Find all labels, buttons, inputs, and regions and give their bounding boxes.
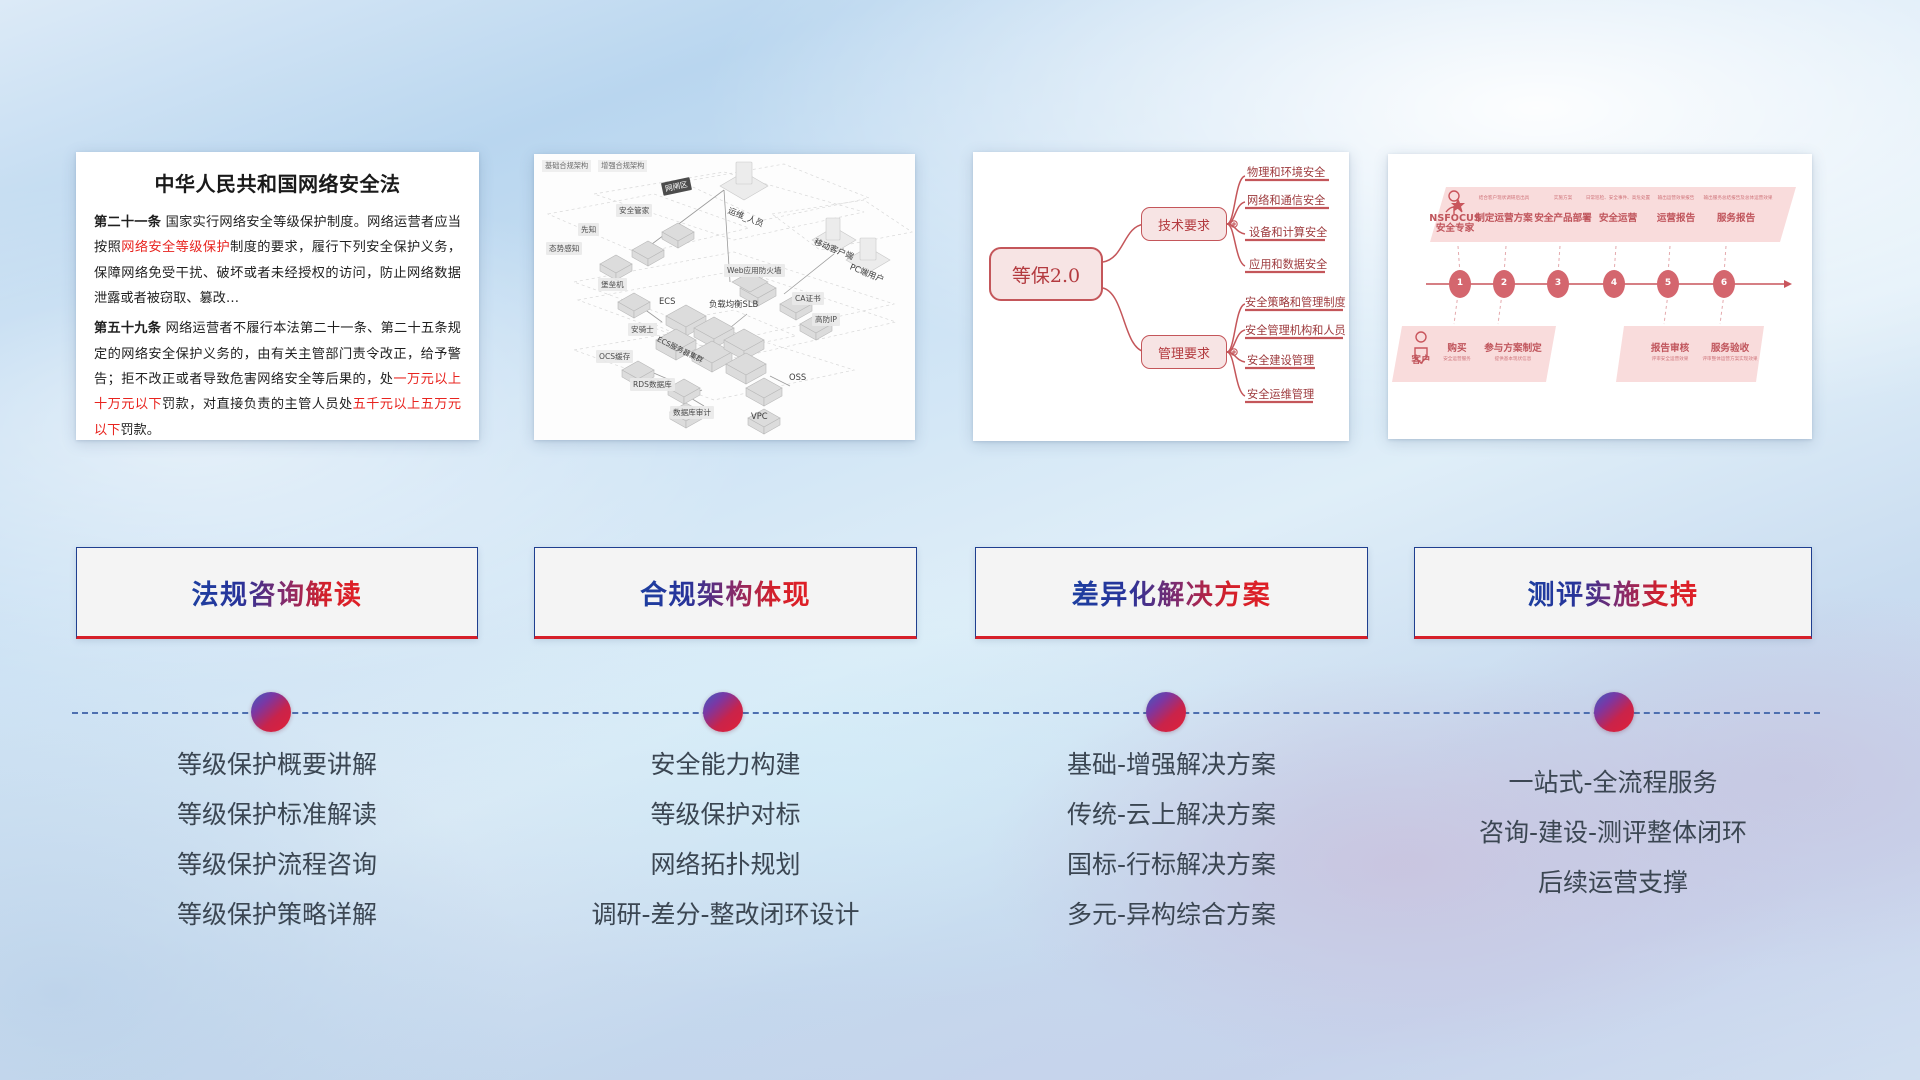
- section-title-row: 法规咨询解读 合规架构体现 差异化解决方案 测评实施支持: [0, 547, 1920, 659]
- section-title-3: 差异化解决方案: [1072, 573, 1272, 612]
- timeline-marker-4[interactable]: [1594, 692, 1634, 732]
- law-run-2-2: 罚款，对直接负责的主管人员处: [162, 397, 353, 412]
- list-item: 安全能力构建: [534, 740, 917, 790]
- law-body: 中华人民共和国网络安全法 第二十一条 国家实行网络安全等级保护制度。网络运营者应…: [76, 152, 479, 440]
- mindmap-leaf-security-ops-mgmt: 安全运维管理: [1247, 386, 1314, 402]
- process-step-6-top-label: 服务报告: [1698, 210, 1774, 224]
- timeline-marker-2[interactable]: [703, 692, 743, 732]
- list-item: 传统-云上解决方案: [975, 790, 1368, 840]
- mindmap-leaf-physical-env-security: 物理和环境安全: [1247, 164, 1325, 180]
- arch-node-anqishi: 安骑士: [628, 323, 657, 336]
- mindmap-branch-management[interactable]: 管理要求: [1141, 335, 1227, 369]
- section-title-box-2[interactable]: 合规架构体现: [534, 547, 917, 639]
- process-step-2-bottom-label: 参与方案制定: [1480, 340, 1546, 354]
- section-items-column-3: 基础-增强解决方案 传统-云上解决方案 国标-行标解决方案 多元-异构综合方案: [975, 740, 1368, 940]
- process-step-6-bottom-label: 服务验收: [1700, 340, 1760, 354]
- section-items-column-2: 安全能力构建 等级保护对标 网络拓扑规划 调研-差分-整改闭环设计: [534, 740, 917, 940]
- mindmap-leaf-device-compute-security: 设备和计算安全: [1249, 224, 1327, 240]
- arch-node-ocs-cache: OCS缓存: [596, 350, 633, 363]
- arch-node-ca-certificate: CA证书: [792, 292, 824, 305]
- mindmap-root-node[interactable]: 等保2.0: [989, 247, 1103, 301]
- timeline-dashed-line: [72, 712, 1820, 714]
- law-paragraph-1: 第二十一条 国家实行网络安全等级保护制度。网络运营者应当按照网络安全等级保护制度…: [94, 210, 461, 311]
- list-item: 等级保护标准解读: [76, 790, 478, 840]
- section-items-column-4: 一站式-全流程服务 咨询-建设-测评整体闭环 后续运营支撑: [1414, 758, 1812, 908]
- arch-node-anti-ddos-ip: 高防IP: [812, 313, 840, 326]
- arch-node-situational-awareness: 态势感知: [546, 242, 582, 255]
- mindmap-leaf-security-policy-system: 安全策略和管理制度: [1245, 294, 1346, 310]
- list-item: 多元-异构综合方案: [975, 890, 1368, 940]
- architecture-diagram: 基础合规架构 增强合规架构: [534, 154, 915, 440]
- section-title-4: 测评实施支持: [1528, 573, 1699, 612]
- process-step-number-6: 6: [1714, 278, 1734, 288]
- timeline-marker-1[interactable]: [251, 692, 291, 732]
- compliance-architecture-card[interactable]: 基础合规架构 增强合规架构: [534, 154, 915, 440]
- arch-node-ecs: ECS: [656, 295, 678, 307]
- section-items-column-1: 等级保护概要讲解 等级保护标准解读 等级保护流程咨询 等级保护策略详解: [76, 740, 478, 940]
- law-run-1-1: 网络安全等级保护: [121, 240, 230, 255]
- process-step-5-bottom-label: 报告审核: [1640, 340, 1700, 354]
- section-title-box-3[interactable]: 差异化解决方案: [975, 547, 1368, 639]
- list-item: 一站式-全流程服务: [1414, 758, 1812, 808]
- reference-image-cards: 中华人民共和国网络安全法 第二十一条 国家实行网络安全等级保护制度。网络运营者应…: [0, 152, 1920, 442]
- list-item: 等级保护策略详解: [76, 890, 478, 940]
- section-title-box-4[interactable]: 测评实施支持: [1414, 547, 1812, 639]
- arch-node-slb: 负载均衡SLB: [706, 297, 761, 311]
- timeline-marker-3[interactable]: [1146, 692, 1186, 732]
- arch-node-bastion-host: 堡垒机: [598, 278, 627, 291]
- section-title-1: 法规咨询解读: [192, 573, 363, 612]
- process-step-1-bottom-sub: 安全运营服务: [1432, 356, 1482, 362]
- mindmap-leaf-security-construction-mgmt: 安全建设管理: [1247, 352, 1314, 368]
- mindmap-leaf-security-org-personnel: 安全管理机构和人员: [1245, 322, 1346, 338]
- mlps-mindmap-card[interactable]: 等保2.0 技术要求 管理要求 物理和环境安全 网络和通信安全 设备和计算安全 …: [973, 152, 1349, 441]
- section-title-2: 合规架构体现: [640, 573, 811, 612]
- law-paragraph-2: 第五十九条 网络运营者不履行本法第二十一条、第二十五条规定的网络安全保护义务的，…: [94, 316, 461, 440]
- law-run-2-4: 罚款。: [120, 423, 160, 438]
- law-title: 中华人民共和国网络安全法: [94, 168, 461, 197]
- mindmap-branch-technical[interactable]: 技术要求: [1141, 207, 1227, 241]
- list-item: 咨询-建设-测评整体闭环: [1414, 808, 1812, 858]
- arch-node-db-audit: 数据库审计: [670, 406, 714, 419]
- list-item: 调研-差分-整改闭环设计: [534, 890, 917, 940]
- process-step-number-3: 3: [1548, 278, 1568, 288]
- arch-node-xianzhi: 先知: [578, 223, 599, 236]
- cybersecurity-law-card[interactable]: 中华人民共和国网络安全法 第二十一条 国家实行网络安全等级保护制度。网络运营者应…: [76, 152, 479, 440]
- list-item: 等级保护对标: [534, 790, 917, 840]
- process-step-6-bottom-sub: 评审整体运营方案实现效果: [1692, 356, 1768, 362]
- mindmap: 等保2.0 技术要求 管理要求 物理和环境安全 网络和通信安全 设备和计算安全 …: [973, 152, 1349, 441]
- arch-node-security-butler: 安全管家: [616, 204, 652, 217]
- process-step-number-2: 2: [1494, 278, 1514, 288]
- arch-node-waf: Web应用防火墙: [724, 264, 785, 277]
- service-process-card[interactable]: NSFOCUS安全专家 客户 结合客户现状调研后出具 制定运营方案 实施方案 安…: [1388, 154, 1812, 439]
- law-article-label-2: 第五十九条: [94, 321, 161, 336]
- process-step-1-bottom-label: 购买: [1434, 340, 1480, 354]
- process-step-number-4: 4: [1604, 278, 1624, 288]
- process-step-2-bottom-sub: 提供基本现状信息: [1480, 356, 1546, 362]
- arch-node-rds-database: RDS数据库: [630, 378, 675, 391]
- process-step-number-5: 5: [1658, 278, 1678, 288]
- list-item: 网络拓扑规划: [534, 840, 917, 890]
- process-timeline: NSFOCUS安全专家 客户 结合客户现状调研后出具 制定运营方案 实施方案 安…: [1388, 154, 1812, 439]
- list-item: 等级保护流程咨询: [76, 840, 478, 890]
- arch-node-vpc: VPC: [748, 410, 771, 422]
- arch-node-oss: OSS: [786, 371, 809, 383]
- timeline-axis: [0, 683, 1920, 743]
- process-step-number-1: 1: [1450, 278, 1470, 288]
- list-item: 等级保护概要讲解: [76, 740, 478, 790]
- process-step-6-top-sub: 输出服务总结报告及总体运营效果: [1692, 195, 1784, 201]
- list-item: 后续运营支撑: [1414, 858, 1812, 908]
- law-article-label-1: 第二十一条: [94, 215, 161, 230]
- mindmap-leaf-app-data-security: 应用和数据安全: [1249, 256, 1327, 272]
- section-items-row: 等级保护概要讲解 等级保护标准解读 等级保护流程咨询 等级保护策略详解 安全能力…: [0, 740, 1920, 960]
- mindmap-leaf-network-comm-security: 网络和通信安全: [1247, 192, 1325, 208]
- list-item: 基础-增强解决方案: [975, 740, 1368, 790]
- section-title-box-1[interactable]: 法规咨询解读: [76, 547, 478, 639]
- list-item: 国标-行标解决方案: [975, 840, 1368, 890]
